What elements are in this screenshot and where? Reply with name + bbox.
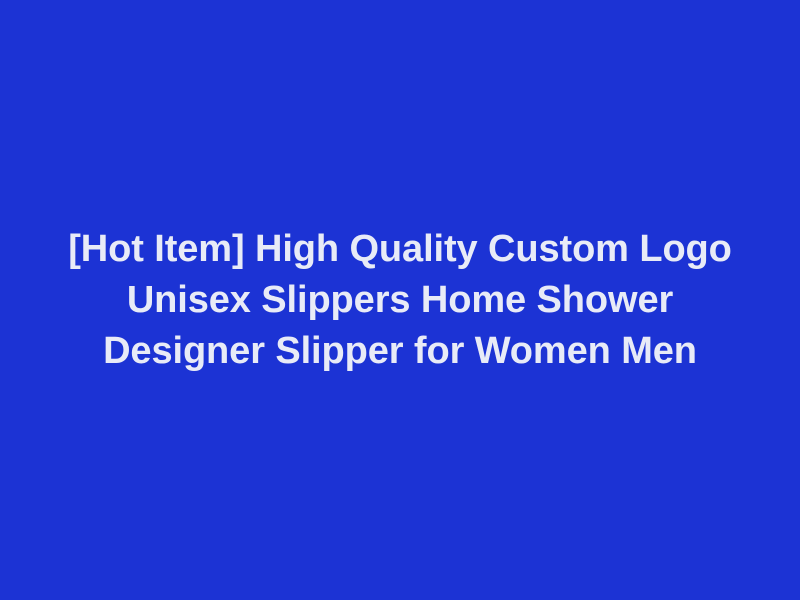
product-title-block: [Hot Item] High Quality Custom Logo Unis…: [40, 224, 760, 377]
product-title-line-2: Unisex Slippers Home Shower: [50, 275, 750, 326]
product-title-line-1: [Hot Item] High Quality Custom Logo: [50, 224, 750, 275]
product-title-line-3: Designer Slipper for Women Men: [50, 326, 750, 377]
product-title-placeholder-canvas: [Hot Item] High Quality Custom Logo Unis…: [0, 0, 800, 600]
